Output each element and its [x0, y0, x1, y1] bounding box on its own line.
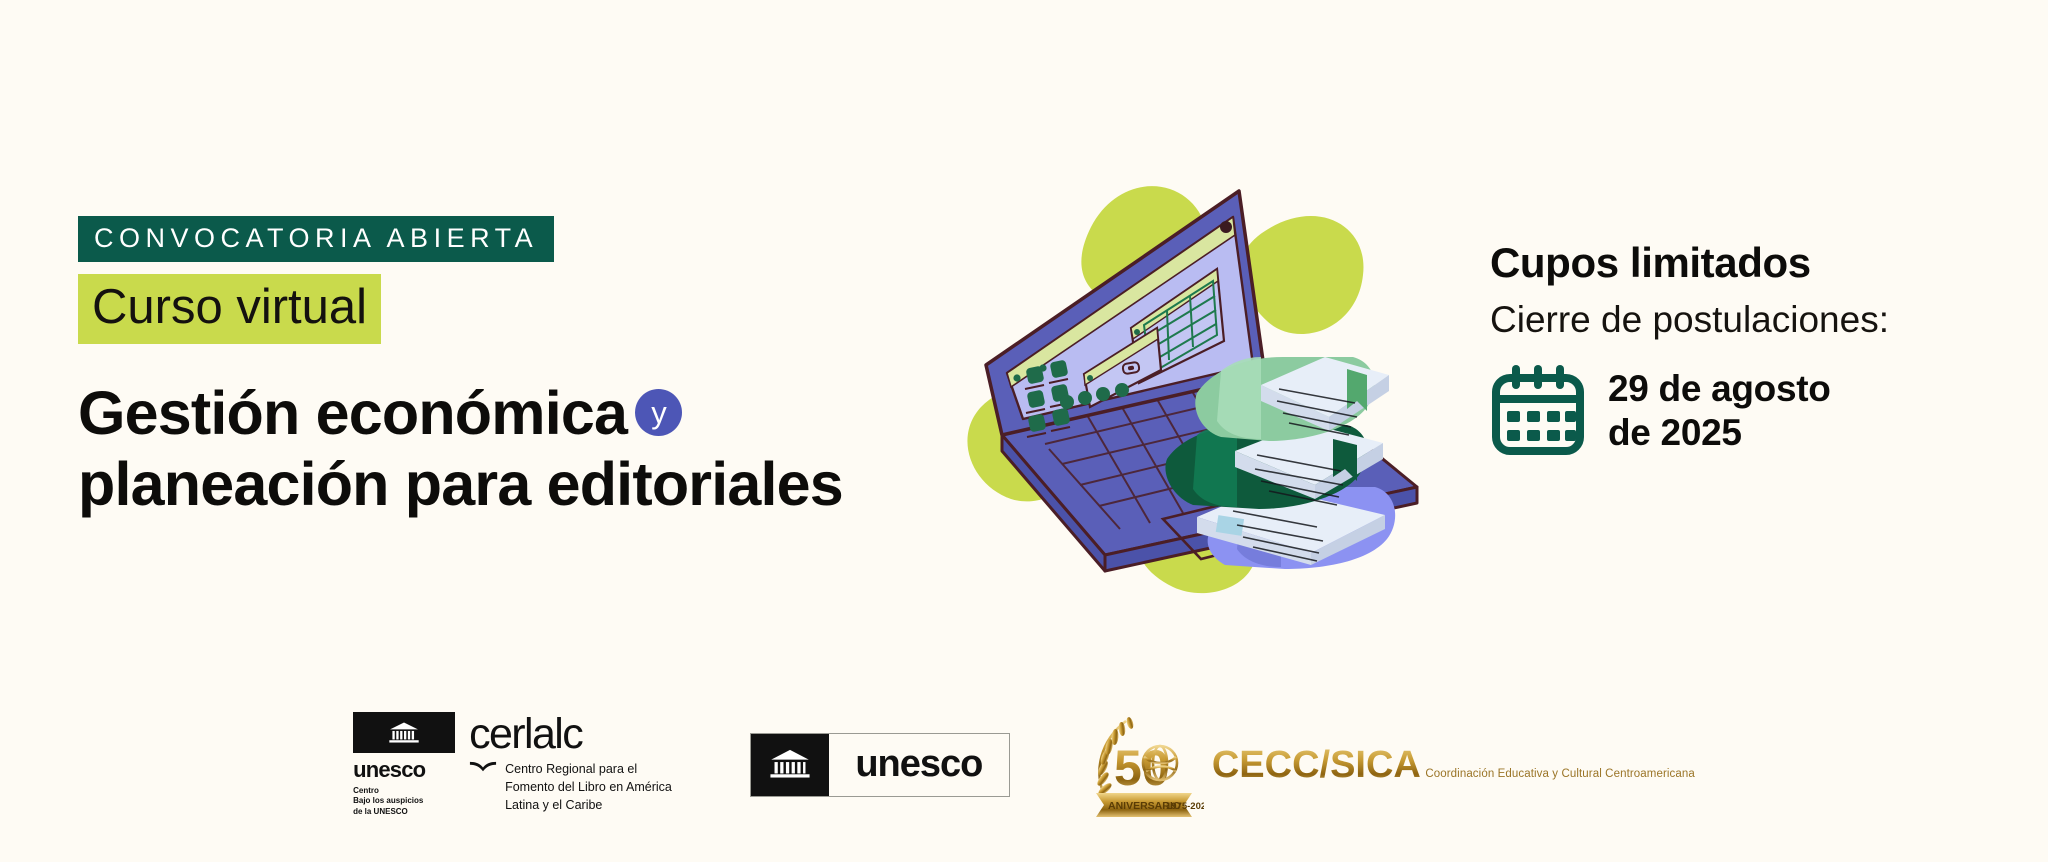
page-title: Gestión económicay planeación para edito… [78, 378, 978, 521]
partner-logos: unesco Centro Bajo los auspicios de la U… [0, 712, 2048, 817]
limited-slots-heading: Cupos limitados [1490, 240, 2010, 286]
unesco-wordmark: unesco [829, 734, 1009, 796]
title-line-1-text: Gestión económica [78, 379, 627, 447]
cerlalc-unesco-wordmark: unesco [353, 757, 455, 783]
deadline-block: Cupos limitados Cierre de postulaciones: [1490, 240, 2010, 457]
applications-close-label: Cierre de postulaciones: [1490, 300, 2010, 341]
headline-block: CONVOCATORIA ABIERTA Curso virtual Gesti… [78, 216, 978, 521]
cerlalc-wordmark: cerlalc [469, 714, 672, 755]
logo-unesco: unesco [750, 733, 1010, 797]
cerlalc-desc-line-2: Fomento del Libro en América [505, 778, 672, 796]
cerlalc-tagline-row: Centro Regional para el Fomento del Libr… [469, 760, 672, 814]
logo-cerlalc: unesco Centro Bajo los auspicios de la U… [353, 712, 672, 817]
auspices-line-2: Bajo los auspicios [353, 796, 455, 806]
cecc-anniversary-years: 1975-2025 [1166, 801, 1204, 812]
calendar-icon [1490, 365, 1586, 457]
eyebrow-badge: CONVOCATORIA ABIERTA [78, 216, 554, 262]
cerlalc-desc-line-1: Centro Regional para el [505, 760, 672, 778]
kicker-badge-wrap: Curso virtual [78, 274, 978, 344]
cerlalc-description: Centro Regional para el Fomento del Libr… [505, 760, 672, 814]
auspices-line-1: Centro [353, 786, 455, 796]
cerlalc-unesco-auspices: unesco Centro Bajo los auspicios de la U… [353, 712, 455, 817]
cerlalc-desc-line-3: Latina y el Caribe [505, 796, 672, 814]
laptop-and-books-illustration [945, 135, 1465, 595]
kicker-badge: Curso virtual [78, 274, 381, 344]
conjunction-bubble: y [635, 389, 682, 436]
cerlalc-book-icon [469, 760, 497, 780]
deadline-date-line-2: de 2025 [1608, 411, 1831, 455]
deadline-date-row: 29 de agosto de 2025 [1490, 365, 2010, 457]
cecc-50-anniversary-emblem: 50 ANIVERSARIO 1975-2025 [1088, 713, 1204, 817]
auspices-line-3: de la UNESCO [353, 807, 455, 817]
logo-cecc-sica: 50 ANIVERSARIO 1975-2025 CECC/SICA [1088, 713, 1695, 817]
promo-banner: CONVOCATORIA ABIERTA Curso virtual Gesti… [0, 0, 2048, 862]
cecc-text-block: CECC/SICA Coordinación Educativa y Cultu… [1212, 746, 1695, 784]
title-line-1: Gestión económicay [78, 378, 978, 449]
unesco-temple-icon [751, 734, 829, 796]
deadline-date: 29 de agosto de 2025 [1608, 367, 1831, 454]
deadline-date-line-1: 29 de agosto [1608, 367, 1831, 411]
cecc-subtitle: Coordinación Educativa y Cultural Centro… [1425, 768, 1695, 780]
cecc-title: CECC/SICA [1212, 744, 1421, 786]
title-line-2: planeación para editoriales [78, 449, 978, 520]
cerlalc-text-block: cerlalc Centro Regional para el Fomento … [469, 712, 672, 814]
cerlalc-auspices-text: Centro Bajo los auspicios de la UNESCO [353, 786, 455, 817]
svg-text:50: 50 [1114, 740, 1170, 796]
unesco-temple-mark-small [353, 712, 455, 753]
